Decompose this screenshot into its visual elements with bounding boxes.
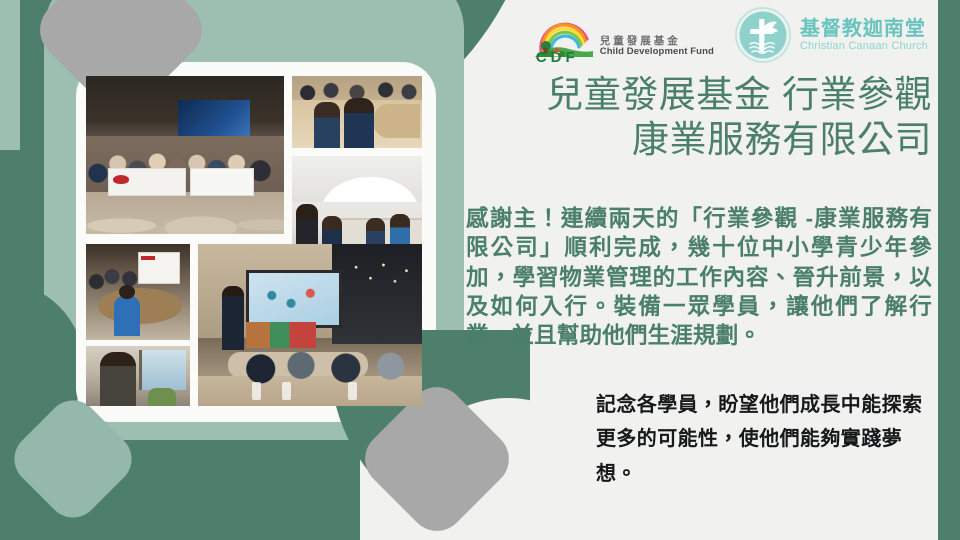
photo-workshop-tables [292,76,422,148]
decoration-light-diamond [4,390,143,529]
church-name-zh: 基督教迦南堂 [800,18,928,40]
logo-child-development-fund: 兒童發展基金 Child Development Fund CDF [535,13,714,57]
body-paragraph: 感謝主！連續兩天的「行業參觀 -康業服務有限公司」順利完成，幾十位中小學青少年參… [466,204,932,350]
church-name-en: Christian Canaan Church [800,40,928,52]
cross-dove-circle-icon [734,6,792,64]
photo-round-table-discussion [86,244,190,340]
decoration-swoosh-cutout [398,398,618,540]
cdf-name-en: Child Development Fund [600,47,714,57]
decoration-right-edge-band [938,0,960,540]
slide-title-line-1: 兒童發展基金 行業參觀 [440,72,932,117]
cdf-abbreviation: CDF [536,49,579,66]
slide-title: 兒童發展基金 行業參觀 康業服務有限公司 [440,72,932,162]
decoration-sage-circle [0,282,84,450]
photo-group-photo-banner [86,76,284,234]
closing-paragraph: 記念各學員，盼望他們成長中能探索更多的可能性，使他們能夠實踐夢想。 [596,388,936,491]
photo-collage [86,76,422,406]
slide-title-line-2: 康業服務有限公司 [440,117,932,162]
photo-man-at-window [86,346,190,406]
presentation-slide: 兒童發展基金 Child Development Fund CDF [0,0,960,540]
photo-presentation-room [198,244,422,406]
decoration-mint-left-band [0,0,86,540]
logo-christian-canaan-church: 基督教迦南堂 Christian Canaan Church [734,6,928,64]
logo-bar: 兒童發展基金 Child Development Fund CDF [535,6,928,64]
